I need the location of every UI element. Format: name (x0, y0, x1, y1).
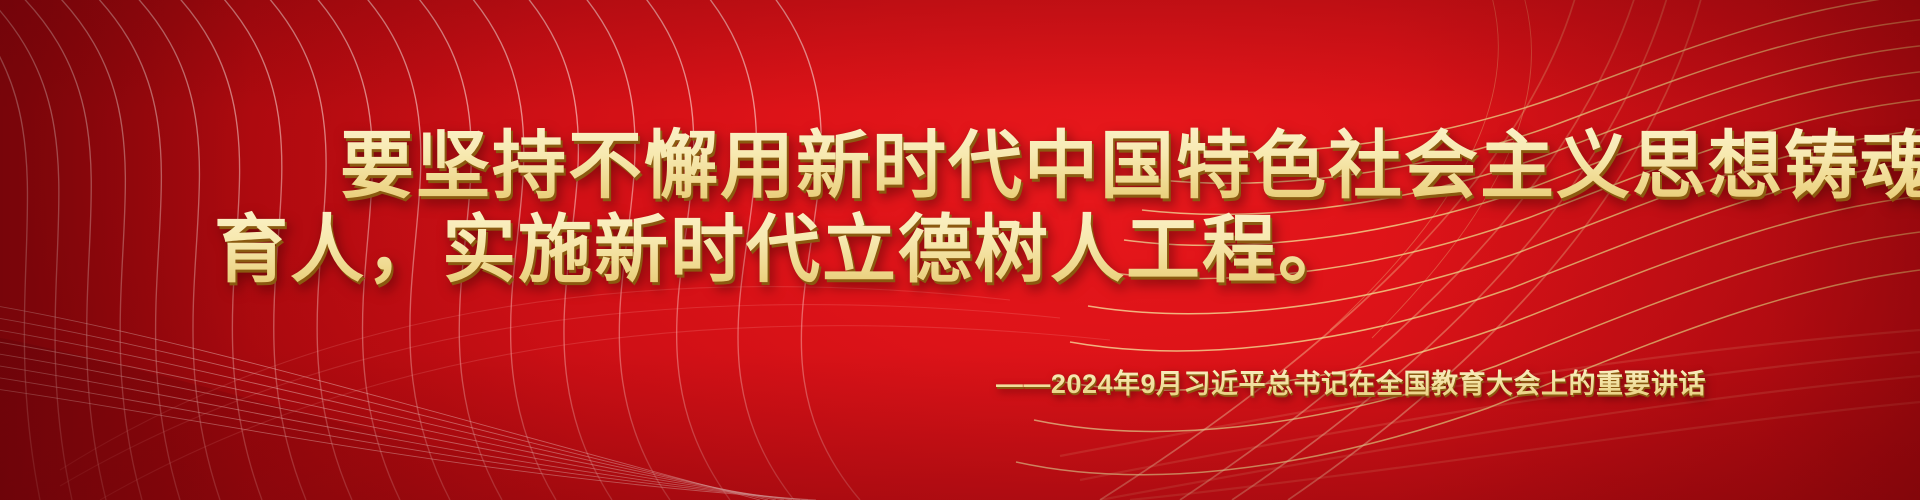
propaganda-banner: 要坚持不懈用新时代中国特色社会主义思想铸魂 育人，实施新时代立德树人工程。 ——… (0, 0, 1920, 500)
headline-line-2: 育人，实施新时代立德树人工程。 (214, 190, 1354, 297)
speech-attribution: ——2024年9月习近平总书记在全国教育大会上的重要讲话 (996, 362, 1706, 401)
banner-text-block: 要坚持不懈用新时代中国特色社会主义思想铸魂 育人，实施新时代立德树人工程。 ——… (0, 0, 1920, 500)
